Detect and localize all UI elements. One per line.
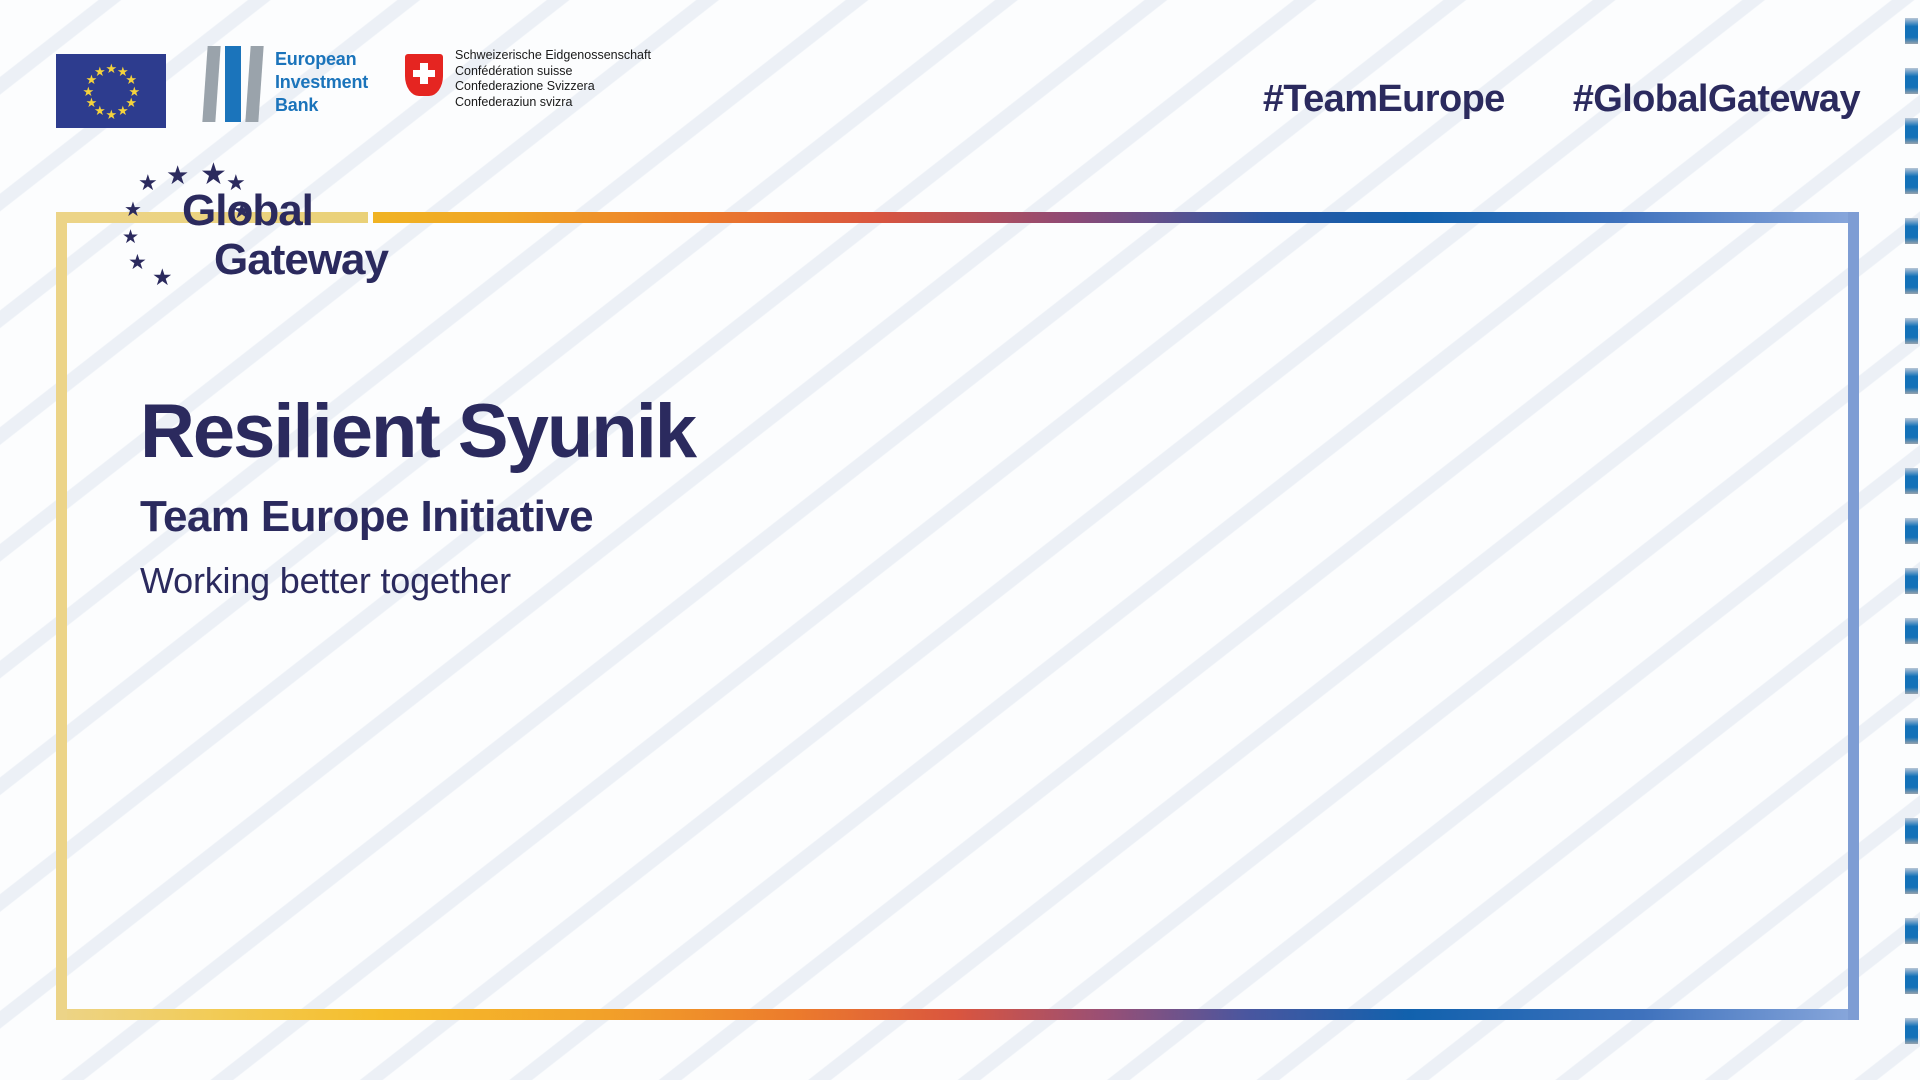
edge-dash-mark [1905,668,1918,694]
eu-flag-star-icon: ★ [117,105,128,116]
eu-flag-star-icon: ★ [106,109,117,120]
edge-dash-mark [1905,1018,1918,1044]
edge-dash-mark [1905,168,1918,194]
global-gateway-word-1: Global [182,186,313,235]
frame-edge-top-right [373,212,1859,223]
page-title: Resilient Syunik [140,390,1240,474]
eib-line-3: Bank [275,94,368,117]
hashtag-group: #TeamEurope #GlobalGateway [1263,78,1860,121]
swiss-confederation-logo: Schweizerische Eidgenossenschaft Confédé… [405,48,655,122]
title-block: Resilient Syunik Team Europe Initiative … [140,390,1240,602]
eu-flag-star-icon: ★ [86,97,97,108]
swiss-logo-text: Schweizerische Eidgenossenschaft Confédé… [455,48,651,110]
edge-dash-mark [1905,368,1918,394]
eib-bars-icon [205,46,263,122]
frame-edge-right [1848,212,1859,1020]
swiss-line-rm: Confederaziun svizra [455,95,651,111]
eib-logo-text: European Investment Bank [275,48,368,117]
edge-dash-mark [1905,818,1918,844]
edge-dash-mark [1905,768,1918,794]
edge-dash-mark [1905,18,1918,44]
european-union-flag-icon: ★★★★★★★★★★★★ [56,54,166,128]
edge-dash-mark [1905,968,1918,994]
edge-dash-mark [1905,468,1918,494]
global-gateway-star-icon: ★ [124,200,142,220]
edge-dash-mark [1905,268,1918,294]
gradient-frame [56,212,1859,1020]
eu-flag-star-icon: ★ [106,63,117,74]
eib-line-2: Investment [275,71,368,94]
swiss-line-fr: Confédération suisse [455,64,651,80]
edge-dash-mark [1905,918,1918,944]
global-gateway-star-icon: ★ [122,228,139,247]
slide-canvas: ★★★★★★★★★★★★ European Investment Bank Sc… [0,0,1920,1080]
edge-dash-mark [1905,718,1918,744]
global-gateway-star-icon: ★ [152,266,173,289]
page-subtitle: Team Europe Initiative [140,492,1240,542]
eib-line-1: European [275,48,368,71]
hashtag-team-europe: #TeamEurope [1263,78,1505,121]
edge-dash-mark [1905,518,1918,544]
global-gateway-logo: ★★★★★★★★★ Global Gateway [122,160,422,288]
edge-dash-mark [1905,68,1918,94]
edge-dash-mark [1905,568,1918,594]
hashtag-global-gateway: #GlobalGateway [1573,78,1860,121]
eu-flag-star-icon: ★ [83,86,94,97]
frame-edge-bottom [56,1009,1859,1020]
swiss-line-it: Confederazione Svizzera [455,79,651,95]
edge-dash-mark [1905,218,1918,244]
global-gateway-star-icon: ★ [166,162,189,188]
edge-dash-mark [1905,318,1918,344]
global-gateway-star-icon: ★ [138,172,158,194]
european-investment-bank-logo: European Investment Bank [205,44,385,126]
swiss-line-de: Schweizerische Eidgenossenschaft [455,48,651,64]
right-edge-dashed-strip [1902,0,1920,1080]
global-gateway-word-2: Gateway [182,235,388,284]
global-gateway-star-icon: ★ [128,252,147,273]
header-logo-bar: ★★★★★★★★★★★★ European Investment Bank Sc… [0,0,1920,160]
swiss-cross-shield-icon [405,54,443,96]
eu-flag-star-icon: ★ [94,66,105,77]
frame-edge-left [56,212,67,1020]
edge-dash-mark [1905,418,1918,444]
page-tagline: Working better together [140,560,1240,602]
global-gateway-wordmark: Global Gateway [182,186,388,284]
edge-dash-mark [1905,868,1918,894]
edge-dash-mark [1905,118,1918,144]
edge-dash-mark [1905,618,1918,644]
